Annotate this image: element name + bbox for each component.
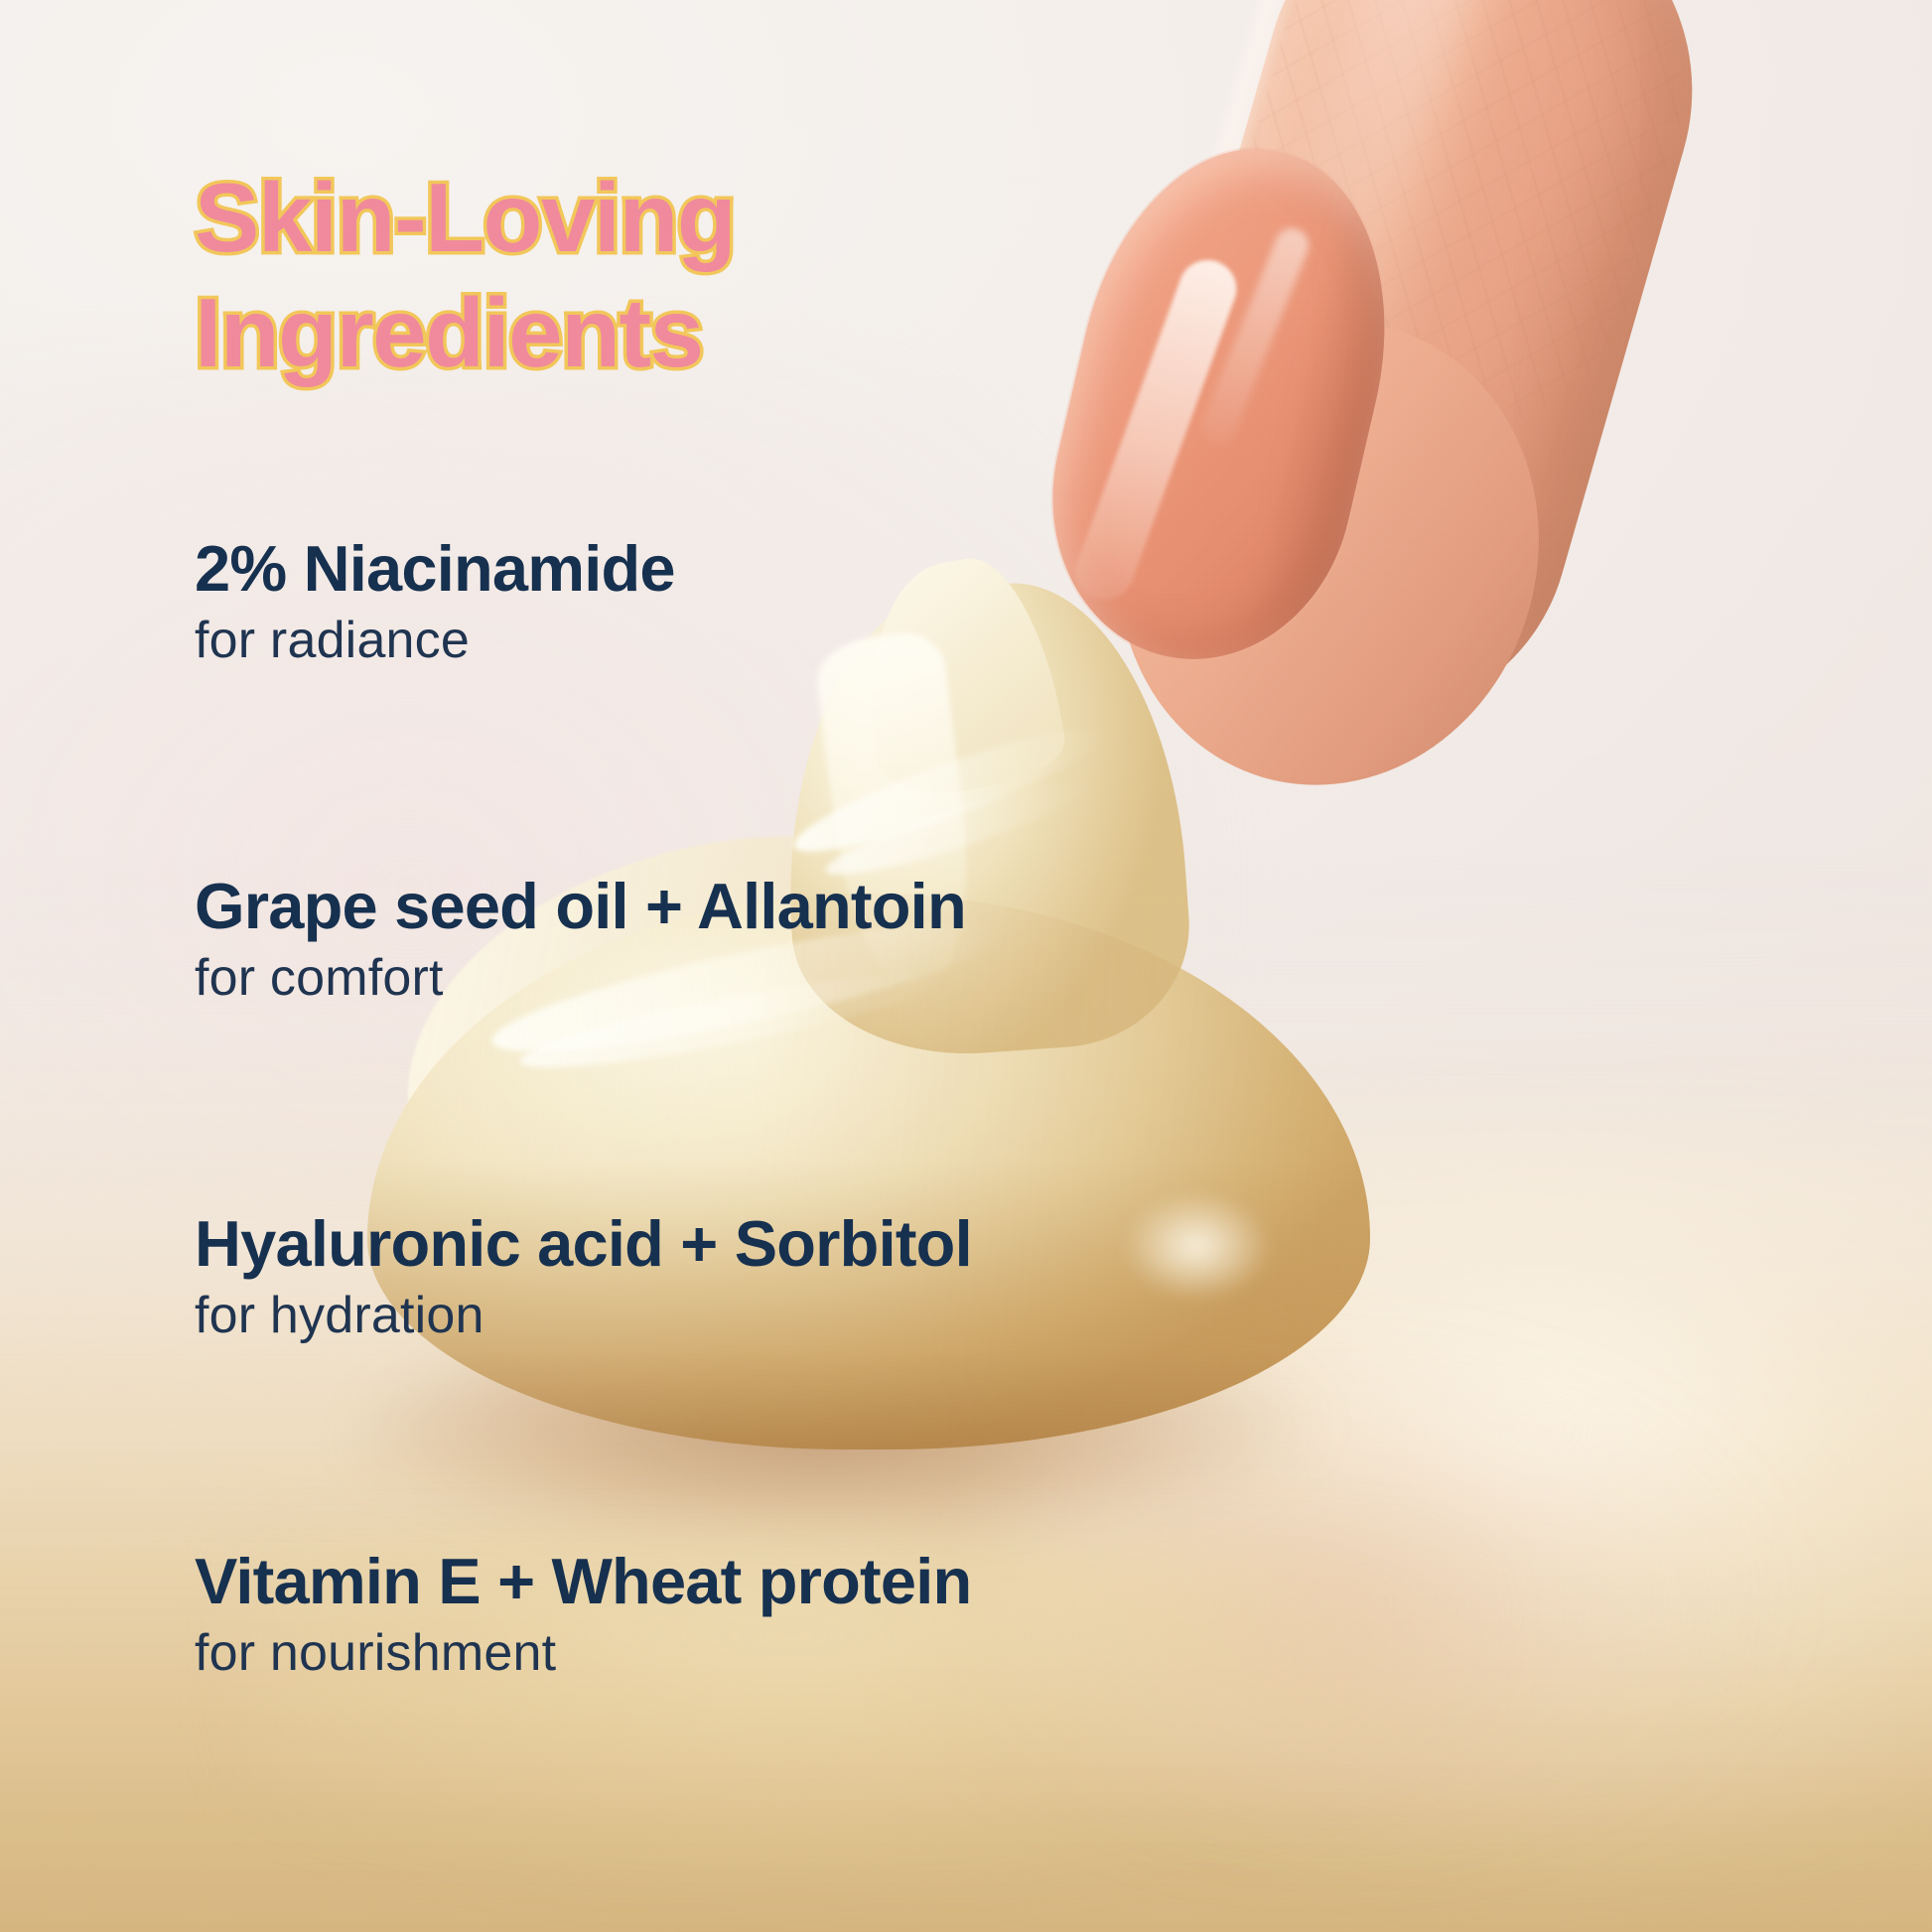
ingredient-benefit: for comfort bbox=[195, 952, 966, 1004]
ingredient-benefit: for nourishment bbox=[195, 1627, 971, 1679]
ingredient-name: Hyaluronic acid + Sorbitol bbox=[195, 1211, 972, 1276]
ingredient-name: Vitamin E + Wheat protein bbox=[195, 1549, 971, 1613]
ingredient-item-vitamin-e-wheat-protein: Vitamin E + Wheat protein for nourishmen… bbox=[195, 1549, 971, 1679]
ingredient-name: Grape seed oil + Allantoin bbox=[195, 874, 966, 938]
product-ingredients-slide: Skin-Loving Ingredients 2% Niacinamide f… bbox=[0, 0, 1932, 1932]
ingredient-name: 2% Niacinamide bbox=[195, 536, 675, 601]
page-title: Skin-Loving Ingredients bbox=[195, 161, 1088, 390]
ingredient-benefit: for hydration bbox=[195, 1290, 972, 1341]
ingredient-benefit: for radiance bbox=[195, 615, 675, 666]
ingredient-item-grape-seed-oil-allantoin: Grape seed oil + Allantoin for comfort bbox=[195, 874, 966, 1004]
ingredient-item-hyaluronic-acid-sorbitol: Hyaluronic acid + Sorbitol for hydration bbox=[195, 1211, 972, 1341]
cream-specular-spot bbox=[1122, 1191, 1271, 1301]
ingredient-item-niacinamide: 2% Niacinamide for radiance bbox=[195, 536, 675, 666]
